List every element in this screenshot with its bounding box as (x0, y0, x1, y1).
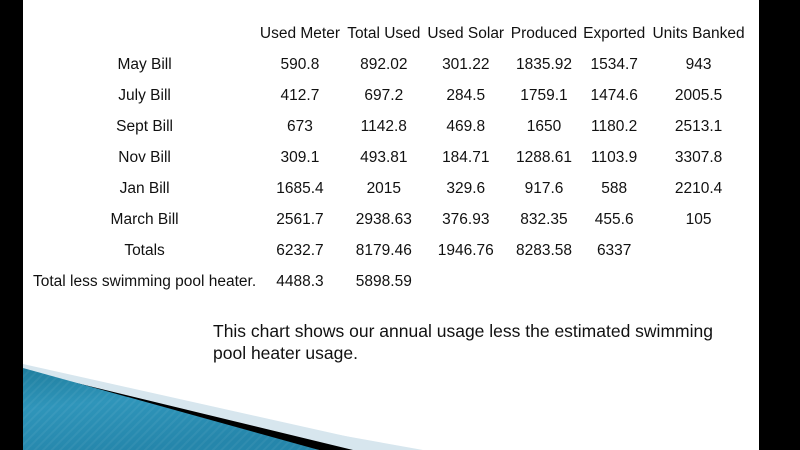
cell-may-total-used: 892.02 (344, 49, 424, 80)
column-header-exported: Exported (580, 18, 648, 49)
row-label-total-less-pool-heater: Total less swimming pool heater. (33, 266, 256, 297)
cell-nov-total-used: 493.81 (344, 142, 424, 173)
cell-sept-units-banked: 2513.1 (648, 111, 749, 142)
cell-totals-total-used: 8179.46 (344, 235, 424, 266)
cell-july-total-used: 697.2 (344, 80, 424, 111)
row-label-july-bill: July Bill (33, 80, 256, 111)
cell-total-less-exported (580, 266, 648, 297)
column-header-units-banked: Units Banked (648, 18, 749, 49)
letterbox-bar-left (0, 0, 23, 450)
table-row: Nov Bill 309.1 493.81 184.71 1288.61 110… (33, 142, 749, 173)
row-label-totals: Totals (33, 235, 256, 266)
cell-march-used-meter: 2561.7 (256, 204, 344, 235)
cell-sept-produced: 1650 (508, 111, 581, 142)
decor-pale-triangle (23, 378, 423, 450)
cell-jan-units-banked: 2210.4 (648, 173, 749, 204)
decor-teal-triangle (23, 368, 319, 450)
cell-sept-total-used: 1142.8 (344, 111, 424, 142)
slide-root: Used Meter Total Used Used Solar Produce… (0, 0, 800, 450)
cell-jan-total-used: 2015 (344, 173, 424, 204)
cell-jan-exported: 588 (580, 173, 648, 204)
row-label-sept-bill: Sept Bill (33, 111, 256, 142)
table-body: May Bill 590.8 892.02 301.22 1835.92 153… (33, 49, 749, 297)
cell-july-units-banked: 2005.5 (648, 80, 749, 111)
cell-nov-units-banked: 3307.8 (648, 142, 749, 173)
column-header-produced: Produced (508, 18, 581, 49)
cell-may-produced: 1835.92 (508, 49, 581, 80)
table-header-row: Used Meter Total Used Used Solar Produce… (33, 18, 749, 49)
letterbox-bar-right (759, 0, 800, 450)
cell-jan-produced: 917.6 (508, 173, 581, 204)
table-row: March Bill 2561.7 2938.63 376.93 832.35 … (33, 204, 749, 235)
cell-nov-exported: 1103.9 (580, 142, 648, 173)
row-label-jan-bill: Jan Bill (33, 173, 256, 204)
cell-totals-used-meter: 6232.7 (256, 235, 344, 266)
decor-black-wedge (23, 370, 353, 450)
decor-teal-texture (23, 368, 319, 450)
row-label-nov-bill: Nov Bill (33, 142, 256, 173)
cell-march-total-used: 2938.63 (344, 204, 424, 235)
cell-totals-used-solar: 1946.76 (424, 235, 508, 266)
cell-march-used-solar: 376.93 (424, 204, 508, 235)
cell-total-less-total-used: 5898.59 (344, 266, 424, 297)
column-header-used-meter: Used Meter (256, 18, 344, 49)
apex-corner-decoration (23, 350, 759, 450)
cell-nov-used-meter: 309.1 (256, 142, 344, 173)
cell-july-used-meter: 412.7 (256, 80, 344, 111)
cell-total-less-produced (508, 266, 581, 297)
slide-caption: This chart shows our annual usage less t… (213, 320, 713, 364)
cell-nov-produced: 1288.61 (508, 142, 581, 173)
cell-july-exported: 1474.6 (580, 80, 648, 111)
cell-march-units-banked: 105 (648, 204, 749, 235)
row-label-march-bill: March Bill (33, 204, 256, 235)
cell-nov-used-solar: 184.71 (424, 142, 508, 173)
cell-totals-units-banked (648, 235, 749, 266)
column-header-total-used: Total Used (344, 18, 424, 49)
table-row: Sept Bill 673 1142.8 469.8 1650 1180.2 2… (33, 111, 749, 142)
table-row: July Bill 412.7 697.2 284.5 1759.1 1474.… (33, 80, 749, 111)
cell-march-produced: 832.35 (508, 204, 581, 235)
table-header: Used Meter Total Used Used Solar Produce… (33, 18, 749, 49)
cell-march-exported: 455.6 (580, 204, 648, 235)
cell-totals-exported: 6337 (580, 235, 648, 266)
table-row: Jan Bill 1685.4 2015 329.6 917.6 588 221… (33, 173, 749, 204)
cell-total-less-units-banked (648, 266, 749, 297)
cell-total-less-used-meter: 4488.3 (256, 266, 344, 297)
table-row-totals: Totals 6232.7 8179.46 1946.76 8283.58 63… (33, 235, 749, 266)
cell-july-produced: 1759.1 (508, 80, 581, 111)
cell-may-used-meter: 590.8 (256, 49, 344, 80)
cell-may-exported: 1534.7 (580, 49, 648, 80)
table-row-total-less: Total less swimming pool heater. 4488.3 … (33, 266, 749, 297)
usage-table: Used Meter Total Used Used Solar Produce… (33, 18, 749, 297)
cell-may-units-banked: 943 (648, 49, 749, 80)
cell-jan-used-solar: 329.6 (424, 173, 508, 204)
table-row: May Bill 590.8 892.02 301.22 1835.92 153… (33, 49, 749, 80)
slide-canvas: Used Meter Total Used Used Solar Produce… (23, 0, 759, 450)
cell-jan-used-meter: 1685.4 (256, 173, 344, 204)
cell-totals-produced: 8283.58 (508, 235, 581, 266)
cell-sept-exported: 1180.2 (580, 111, 648, 142)
cell-july-used-solar: 284.5 (424, 80, 508, 111)
cell-sept-used-meter: 673 (256, 111, 344, 142)
cell-may-used-solar: 301.22 (424, 49, 508, 80)
row-label-may-bill: May Bill (33, 49, 256, 80)
decor-pale-triangle-upper (23, 364, 363, 450)
cell-total-less-used-solar (424, 266, 508, 297)
column-header-corner (33, 18, 256, 49)
column-header-used-solar: Used Solar (424, 18, 508, 49)
cell-sept-used-solar: 469.8 (424, 111, 508, 142)
